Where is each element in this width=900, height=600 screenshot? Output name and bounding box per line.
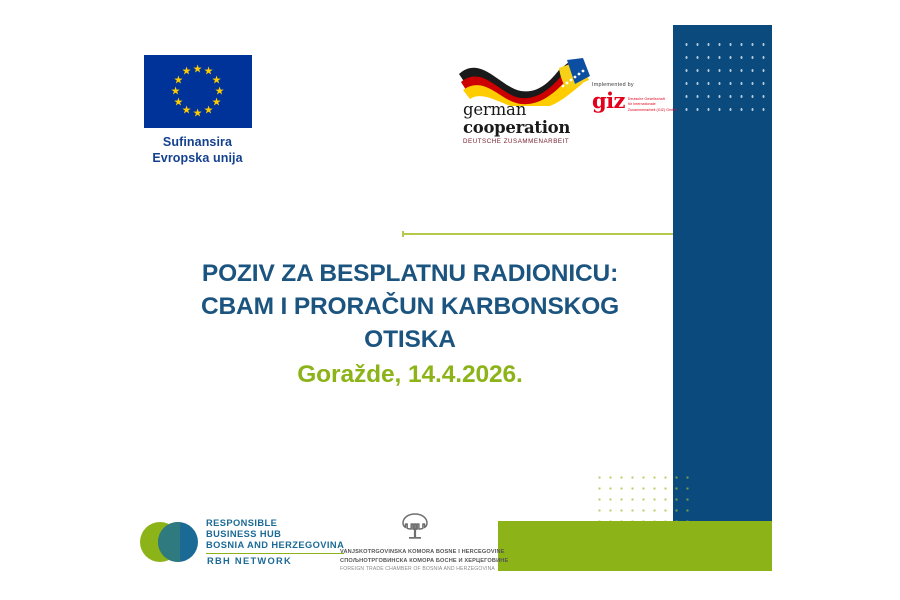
german-cooperation-line-3: DEUTSCHE ZUSAMMENARBEIT bbox=[463, 139, 570, 145]
rbh-line-1: RESPONSIBLE bbox=[206, 518, 344, 529]
rbh-network-logo: RESPONSIBLE BUSINESS HUB BOSNIA AND HERZ… bbox=[140, 518, 344, 567]
eu-star-icon: ★ bbox=[181, 67, 192, 78]
eu-star-icon: ★ bbox=[192, 64, 203, 75]
presentation-slide: ★★★★★★★★★★★★ Sufinansira Evropska unija … bbox=[0, 0, 900, 600]
giz-logo: Implemented by giz Deutsche Gesellschaft… bbox=[592, 82, 688, 113]
eu-star-icon: ★ bbox=[170, 86, 181, 97]
rbh-wordmark: RESPONSIBLE BUSINESS HUB BOSNIA AND HERZ… bbox=[206, 518, 344, 567]
rbh-line-3: BOSNIA AND HERZEGOVINA bbox=[206, 540, 344, 551]
foreign-trade-chamber-logo: VANJSKOTRGOVINSKA KOMORA BOSNE I HERCEGO… bbox=[340, 512, 490, 573]
eu-caption: Sufinansira Evropska unija bbox=[140, 135, 255, 166]
giz-descriptor: Deutsche Gesellschaft für Internationale… bbox=[628, 92, 677, 113]
rbh-line-4: RBH NETWORK bbox=[206, 553, 344, 567]
headline-line-2: CBAM I PRORAČUN KARBONSKOG bbox=[160, 291, 660, 324]
dot-grid-top-decoration bbox=[679, 36, 771, 114]
eu-star-icon: ★ bbox=[192, 108, 203, 119]
rbh-circles-icon bbox=[140, 519, 198, 565]
green-decorative-band bbox=[498, 521, 772, 571]
german-cooperation-line-2: cooperation bbox=[463, 120, 570, 137]
eu-flag-icon: ★★★★★★★★★★★★ bbox=[144, 55, 252, 128]
eu-star-icon: ★ bbox=[173, 97, 184, 108]
chamber-line-2: СПОЉНОТРГОВИНСКА КОМОРА БОСНЕ И ХЕРЦЕГОВ… bbox=[340, 557, 490, 566]
chamber-line-3: FOREIGN TRADE CHAMBER OF BOSNIA AND HERZ… bbox=[340, 565, 490, 573]
german-bosnian-flag-swoosh-icon bbox=[455, 58, 590, 106]
dot-grid-bottom-decoration bbox=[592, 470, 696, 522]
german-cooperation-wordmark: german cooperation DEUTSCHE ZUSAMMENARBE… bbox=[463, 102, 570, 145]
headline-line-3: OTISKA bbox=[160, 324, 660, 357]
headline-date: Goražde, 14.4.2026. bbox=[160, 359, 660, 392]
headline-line-1: POZIV ZA BESPLATNU RADIONICU: bbox=[160, 258, 660, 291]
giz-descriptor-line-3: Zusammenarbeit (GIZ) GmbH bbox=[628, 108, 677, 113]
eu-caption-line-1: Sufinansira bbox=[140, 135, 255, 151]
giz-wordmark: giz bbox=[592, 92, 625, 110]
headline-title: POZIV ZA BESPLATNU RADIONICU: CBAM I PRO… bbox=[160, 258, 660, 356]
chamber-tree-icon bbox=[398, 512, 432, 540]
eu-caption-line-2: Evropska unija bbox=[140, 151, 255, 167]
german-cooperation-line-1: german bbox=[463, 102, 570, 119]
chamber-line-1: VANJSKOTRGOVINSKA KOMORA BOSNE I HERCEGO… bbox=[340, 548, 490, 557]
eu-funding-logo: ★★★★★★★★★★★★ Sufinansira Evropska unija bbox=[140, 55, 255, 166]
eu-star-icon: ★ bbox=[203, 105, 214, 116]
horizontal-rule-decoration bbox=[402, 233, 673, 235]
rbh-line-2: BUSINESS HUB bbox=[206, 529, 344, 540]
slide-headline: POZIV ZA BESPLATNU RADIONICU: CBAM I PRO… bbox=[160, 258, 660, 392]
